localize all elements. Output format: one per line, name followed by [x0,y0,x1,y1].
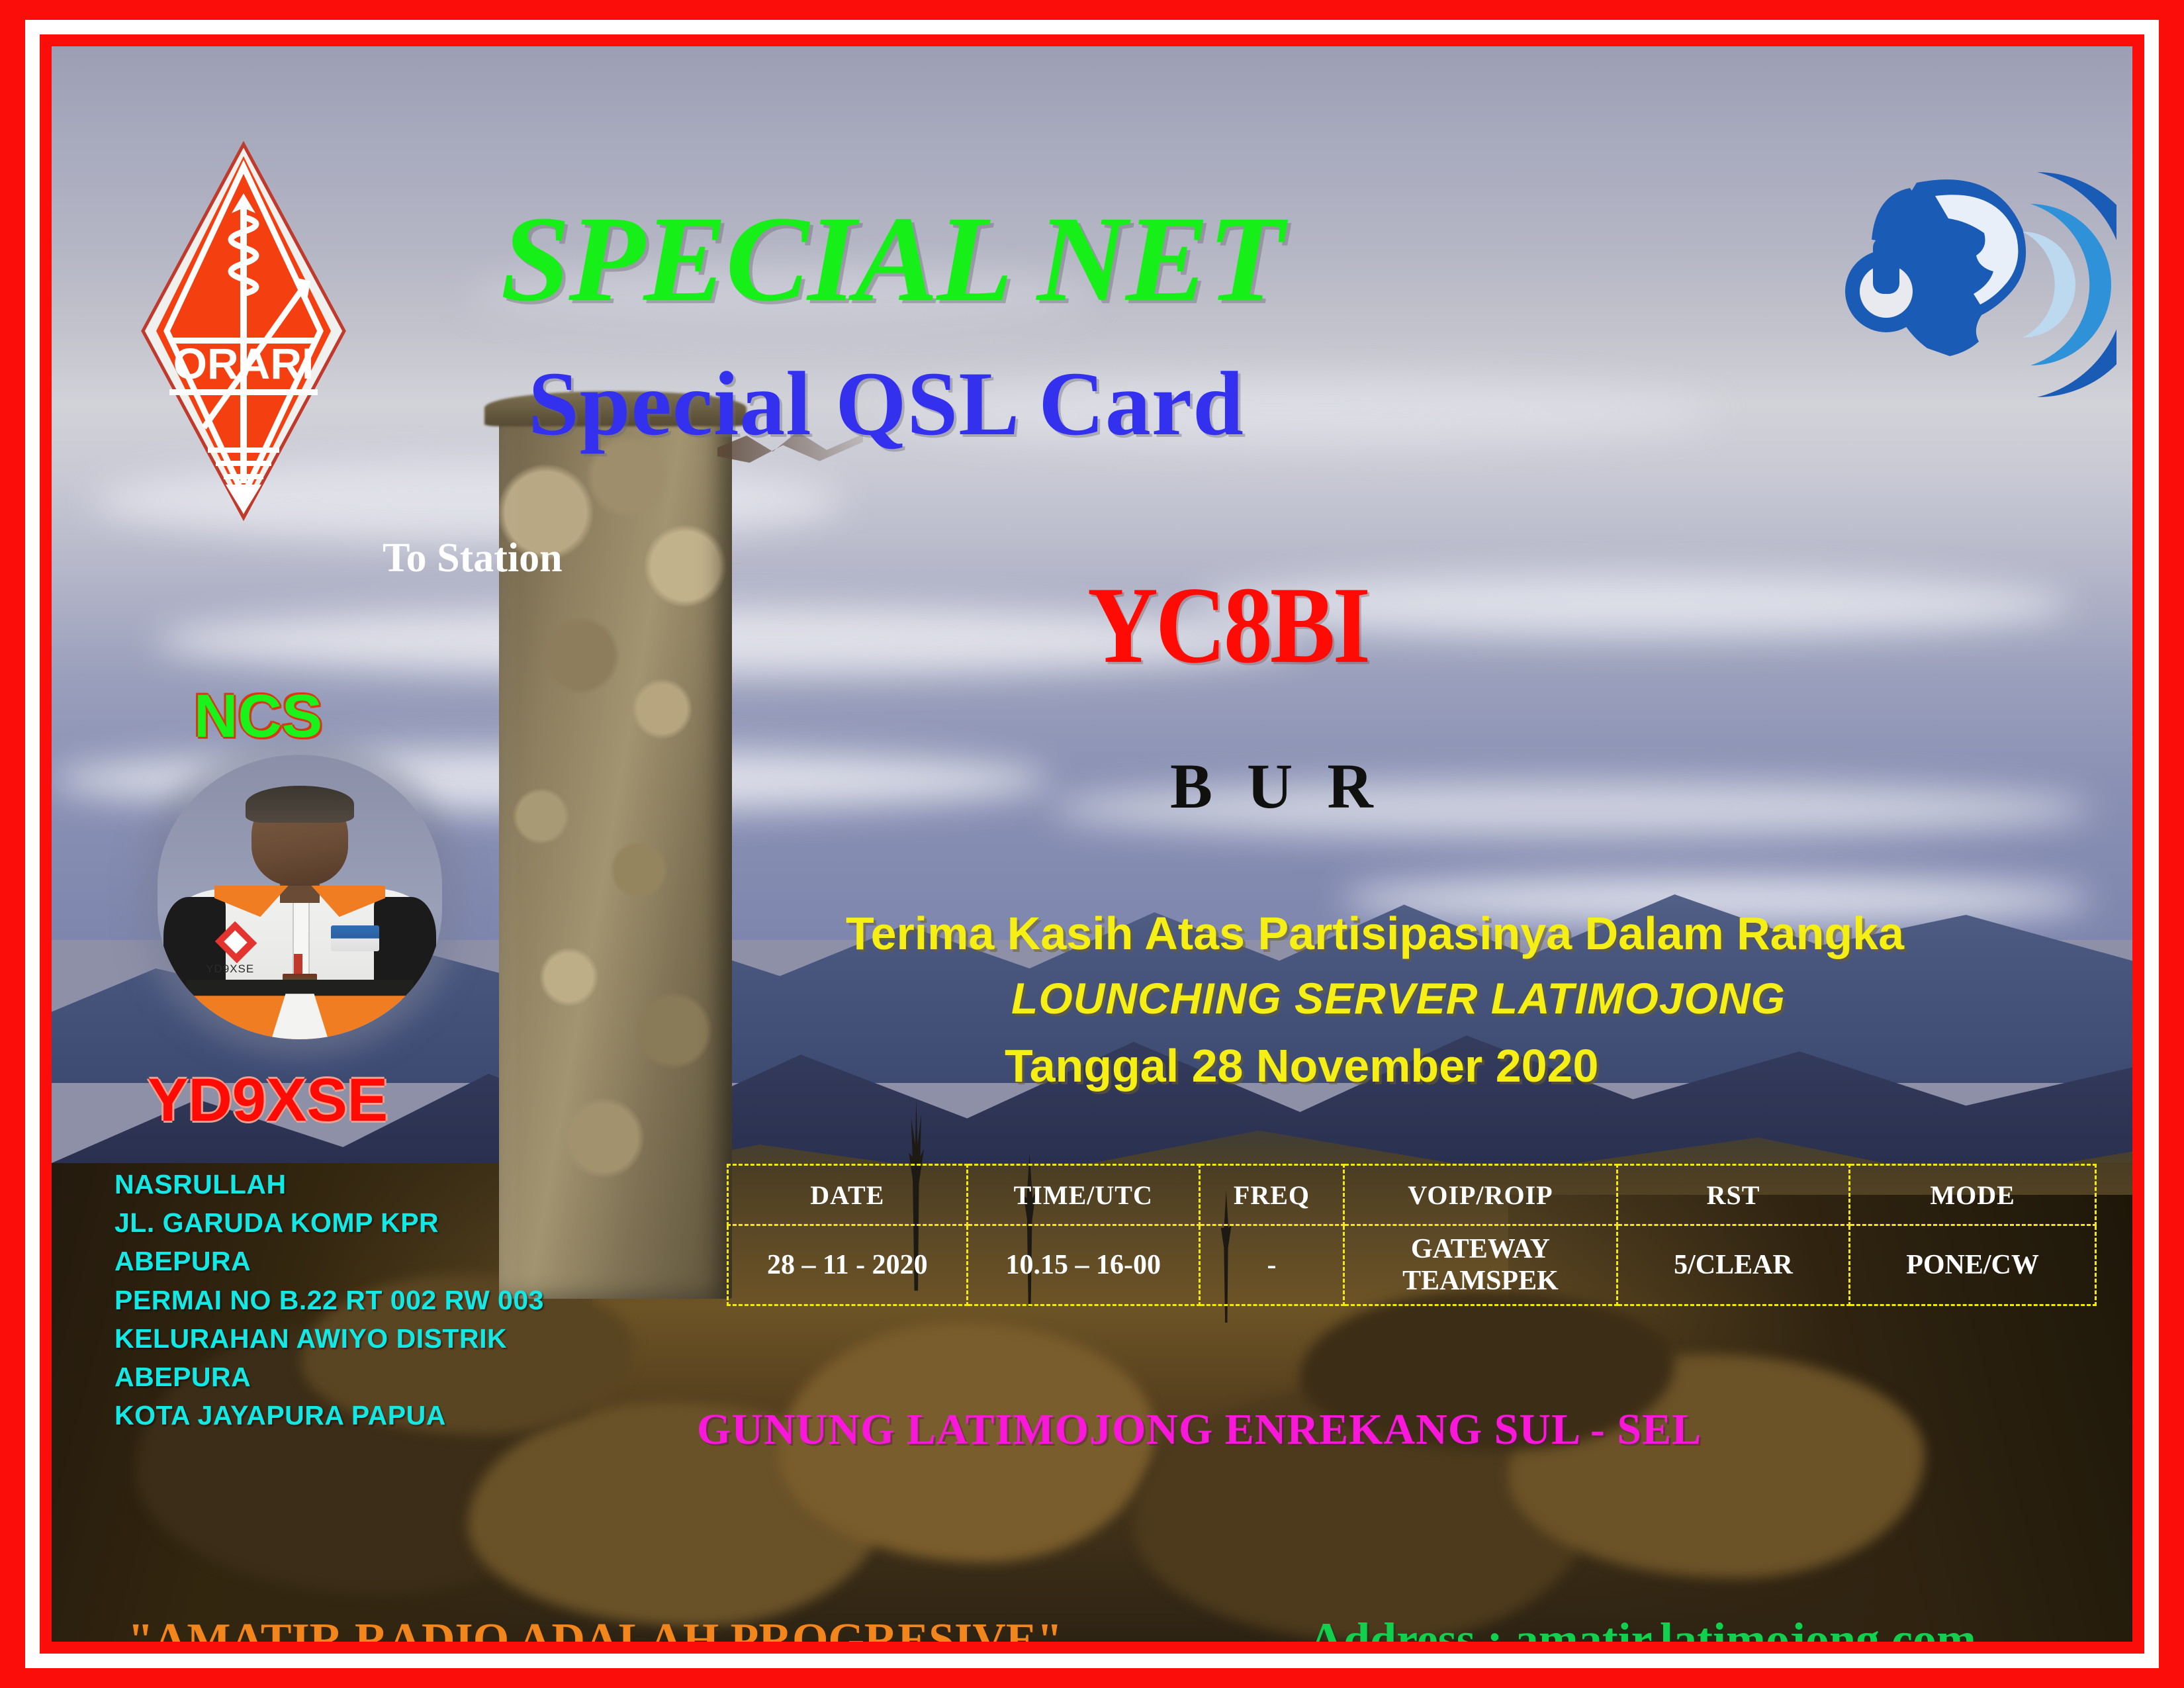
address-line: KELURAHAN AWIYO DISTRIK [114,1319,670,1358]
table-row: 28 – 11 - 2020 10.15 – 16-00 - GATEWAY T… [728,1225,2096,1305]
orari-logo: ORARI [138,139,349,523]
footer-motto: "AMATIR RADIO ADALAH PROGRESIVE" [128,1614,1062,1642]
cell-time: 10.15 – 16-00 [967,1225,1199,1305]
cell-voip-line-2: TEAMSPEK [1345,1265,1616,1297]
address-line: ABEPURA [114,1358,670,1396]
address-line: PERMAI NO B.22 RT 002 RW 003 [114,1281,670,1319]
column-header-freq: FREQ [1199,1165,1343,1225]
qsl-code-bur: B U R [1170,749,1383,823]
thanks-line-3: Tanggal 28 November 2020 [1005,1039,2132,1092]
table-header-row: DATE TIME/UTC FREQ VOIP/ROIP RST MODE [728,1165,2096,1225]
address-line: JL. GARUDA KOMP KPR [114,1203,670,1242]
headset-operator-logo [1839,152,2116,417]
ncs-operator-photo: YD9XSE [158,755,442,1039]
lanyard [294,954,302,974]
column-header-voip-roip: VOIP/ROIP [1344,1165,1617,1225]
column-header-mode: MODE [1850,1165,2096,1225]
qso-log-table: DATE TIME/UTC FREQ VOIP/ROIP RST MODE 28… [727,1164,2097,1306]
column-header-time-utc: TIME/UTC [967,1165,1199,1225]
station-address-block: NASRULLAH JL. GARUDA KOMP KPR ABEPURA PE… [114,1165,670,1435]
thanks-block: Terima Kasih Atas Partisipasinya Dalam R… [846,907,2132,1092]
orari-logo-text: ORARI [173,339,314,388]
thanks-line-2: LOUNCHING SERVER LATIMOJONG [1011,973,2132,1023]
cell-freq: - [1199,1225,1343,1305]
location-label: GUNUNG LATIMOJONG ENREKANG SUL - SEL [697,1405,1702,1455]
cell-date: 28 – 11 - 2020 [728,1225,968,1305]
card-photo-area: ORARI [52,46,2132,1642]
cell-voip-line-1: GATEWAY [1345,1233,1616,1265]
cell-mode: PONE/CW [1850,1225,2096,1305]
ncs-callsign: YD9XSE [148,1066,388,1135]
uniform-callsign-text: YD9XSE [206,962,280,974]
address-line: NASRULLAH [114,1165,670,1203]
station-callsign: YC8BI [1087,563,1368,688]
page-subtitle-special-qsl-card: Special QSL Card [528,351,1244,456]
thanks-line-1: Terima Kasih Atas Partisipasinya Dalam R… [846,907,2132,960]
operator-hair [246,786,353,823]
qsl-card: ORARI [0,0,2184,1688]
uniform-logo-patch [331,925,379,951]
cell-rst: 5/CLEAR [1617,1225,1849,1305]
column-header-date: DATE [728,1165,968,1225]
cell-voip: GATEWAY TEAMSPEK [1344,1225,1617,1305]
address-line: KOTA JAYAPURA PAPUA [114,1396,670,1434]
address-line: ABEPURA [114,1242,670,1280]
footer-website-address: Address : amatir.latimojong.com [1309,1613,1976,1642]
ncs-label: NCS [194,682,322,751]
page-title-special-net: SPECIAL NET [500,189,1283,330]
column-header-rst: RST [1617,1165,1849,1225]
to-station-label: To Station [383,535,563,582]
